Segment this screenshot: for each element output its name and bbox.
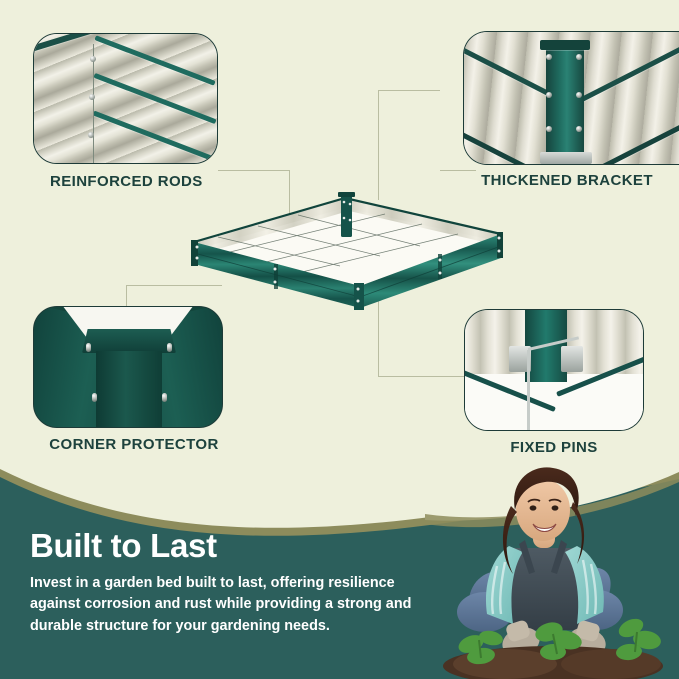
support-wire: [93, 44, 94, 164]
bracket-foot-plate: [540, 152, 592, 164]
bracket-screw: [576, 126, 582, 132]
bracket-cap: [540, 40, 590, 50]
bracket-screw: [546, 54, 552, 60]
rod-screw: [90, 56, 96, 62]
bracket-screw: [546, 92, 552, 98]
fixed-pin-stake: [527, 350, 530, 431]
callout-corner-protector[interactable]: CORNER PROTECTOR: [33, 306, 223, 428]
callout-label-thickened-bracket: THICKENED BRACKET: [463, 172, 671, 189]
corner-protector-column: [96, 351, 162, 428]
rod-screw: [89, 94, 95, 100]
bracket-screw: [546, 126, 552, 132]
callout-frame-reinforced-rods: [33, 33, 218, 164]
callout-label-corner-protector: CORNER PROTECTOR: [45, 436, 223, 453]
rod-screw: [88, 132, 94, 138]
fixed-pin-bracket-right: [561, 346, 583, 372]
callout-reinforced-rods[interactable]: REINFORCED RODS: [33, 33, 218, 164]
callout-label-fixed-pins: FIXED PINS: [464, 439, 644, 456]
callout-thickened-bracket[interactable]: THICKENED BRACKET: [463, 31, 679, 165]
corner-screw: [167, 343, 172, 352]
callout-frame-fixed-pins: [464, 309, 644, 431]
callout-fixed-pins[interactable]: FIXED PINS: [464, 309, 644, 431]
gardener-illustration: [425, 462, 679, 679]
corner-screw: [162, 393, 167, 402]
banner-headline: Built to Last: [30, 527, 217, 565]
corner-screw: [86, 343, 91, 352]
banner-body-text: Invest in a garden bed built to last, of…: [30, 573, 425, 637]
callout-frame-thickened-bracket: [463, 31, 679, 165]
callout-label-reinforced-rods: REINFORCED RODS: [50, 173, 218, 190]
callout-frame-corner-protector: [33, 306, 223, 428]
gardener-photo: [425, 462, 679, 679]
corrugated-panel-texture: [33, 33, 218, 164]
product-raised-garden-bed: [170, 190, 525, 310]
corner-screw: [92, 393, 97, 402]
infographic-canvas: REINFORCED RODS THICKENED BRACKET: [0, 0, 679, 679]
bracket-screw: [576, 92, 582, 98]
corner-protector-cap: [82, 329, 176, 353]
bracket-screw: [576, 54, 582, 60]
garden-bed-illustration: [170, 190, 525, 310]
